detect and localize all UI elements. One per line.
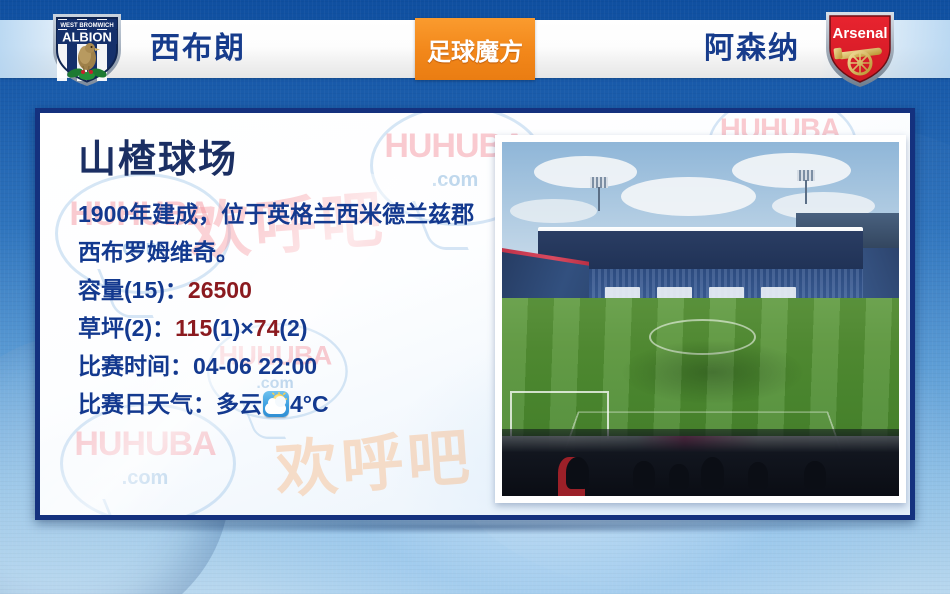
- stadium-photo: [502, 142, 899, 496]
- stadium-info-panel: HUHUBA .com HUHUBA .com HUHUBA .com 欢呼吧 …: [35, 108, 915, 520]
- away-team-name: 阿森纳: [704, 20, 800, 78]
- photo-spectator: [804, 461, 826, 489]
- svg-text:WEST BROMWICH: WEST BROMWICH: [60, 23, 113, 29]
- photo-spectator: [633, 461, 655, 489]
- site-logo[interactable]: 足球魔方: [415, 18, 535, 80]
- pitch-width: 74: [254, 315, 280, 341]
- match-time-line: 比赛时间：04-06 22:00: [78, 347, 498, 385]
- site-logo-label: 足球魔方: [427, 32, 523, 67]
- capacity-value: 26500: [188, 277, 252, 303]
- weather-value: 多云: [216, 391, 262, 417]
- capacity-label: 容量(15)：: [78, 277, 188, 303]
- pitch-length: 115: [175, 315, 212, 341]
- stadium-title: 山楂球场: [78, 141, 498, 179]
- photo-pitch-shadow: [621, 340, 804, 404]
- screenshot-root: 西布朗 阿森纳 足球魔方 WEST BROMWICH ALBION: [0, 0, 950, 594]
- watermark-domain: .com: [74, 467, 216, 490]
- match-header: 西布朗 阿森纳 足球魔方 WEST BROMWICH ALBION: [0, 0, 950, 95]
- pitch-length-rank: (1): [212, 315, 240, 341]
- temperature-value: 4°C: [290, 391, 329, 417]
- photo-spectator: [566, 457, 590, 489]
- pitch-separator: ×: [240, 315, 253, 341]
- arsenal-badge: Arsenal: [818, 6, 902, 90]
- floodlight-icon: [589, 177, 609, 211]
- stadium-info-text: 山楂球场 1900年建成，位于英格兰西米德兰兹郡西布罗姆维奇。 容量(15)：2…: [78, 141, 498, 423]
- floodlight-icon: [796, 170, 816, 204]
- partly-cloudy-icon: [263, 391, 289, 417]
- panel-shadow: [35, 520, 915, 534]
- pitch-label: 草坪(2)：: [78, 315, 175, 341]
- photo-spectator: [669, 464, 689, 489]
- svg-text:Arsenal: Arsenal: [832, 25, 887, 42]
- panel-inner: HUHUBA .com HUHUBA .com HUHUBA .com 欢呼吧 …: [40, 113, 910, 515]
- pitch-width-rank: (2): [279, 315, 307, 341]
- match-time-label: 比赛时间：: [78, 353, 193, 379]
- svg-text:ALBION: ALBION: [62, 30, 112, 45]
- pitch-line: 草坪(2)：115(1)×74(2): [78, 309, 498, 347]
- watermark-brand: HUHUBA: [74, 425, 216, 464]
- match-time-value: 04-06 22:00: [193, 353, 317, 379]
- weather-label: 比赛日天气：: [78, 391, 216, 417]
- stadium-description: 1900年建成，位于英格兰西米德兰兹郡西布罗姆维奇。: [78, 195, 493, 271]
- capacity-line: 容量(15)：26500: [78, 271, 498, 309]
- west-bromwich-albion-badge: WEST BROMWICH ALBION: [45, 6, 129, 90]
- photo-spectator: [701, 457, 725, 489]
- home-team-name: 西布朗: [150, 20, 246, 78]
- weather-line: 比赛日天气：多云 4°C: [78, 385, 498, 423]
- stadium-photo-frame: [495, 135, 906, 503]
- photo-spectator: [748, 462, 768, 489]
